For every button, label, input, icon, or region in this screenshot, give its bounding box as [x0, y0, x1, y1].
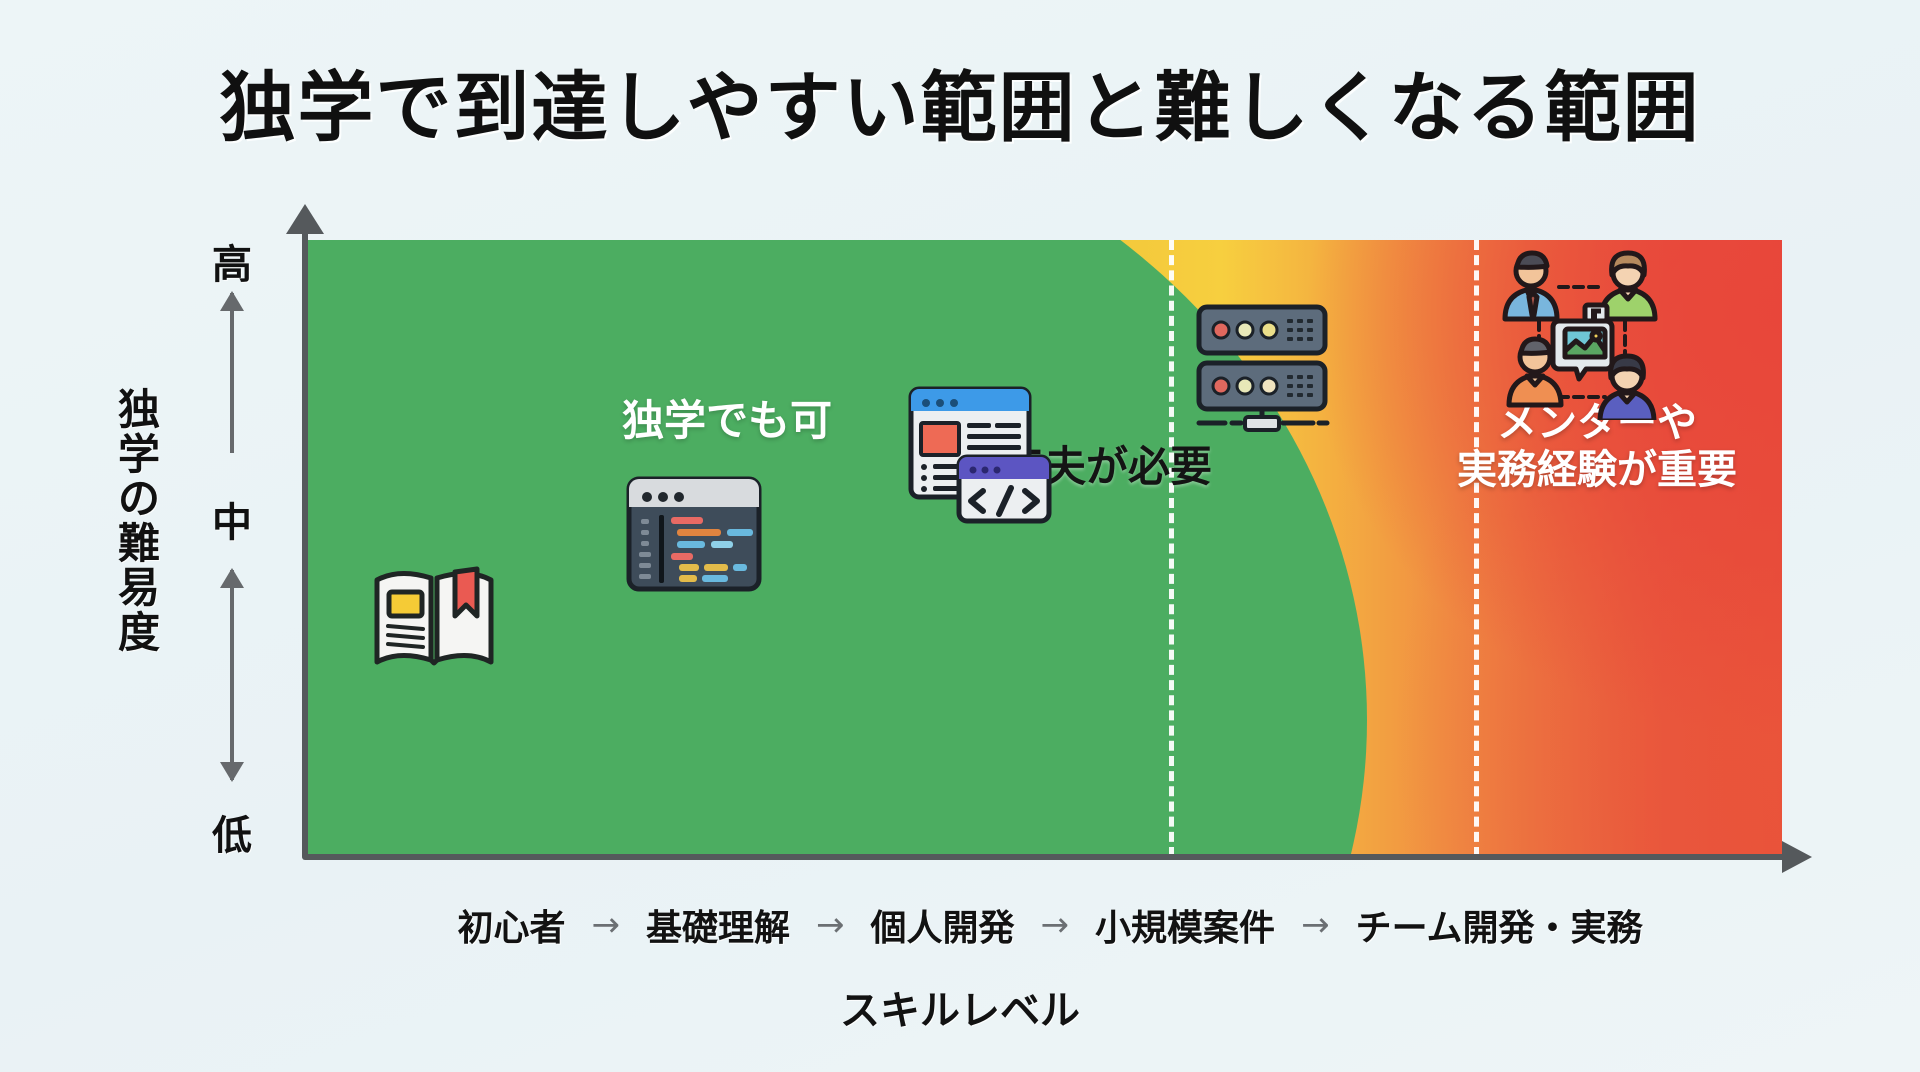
- arrow-head-up: [220, 568, 244, 588]
- x-arrow-icon-1: →: [816, 905, 845, 945]
- y-title-char-3: の: [110, 477, 168, 522]
- y-title-char-6: 度: [110, 611, 168, 656]
- x-axis-title: スキルレベル: [0, 978, 1920, 1036]
- y-axis-arrowhead: [286, 204, 324, 234]
- arrow-shaft: [230, 570, 234, 780]
- y-axis-title: 独学の難易度: [110, 388, 168, 655]
- infographic-root: 独学で到達しやすい範囲と難しくなる範囲 独学でも可 工夫が必要 メンターや 実務…: [0, 0, 1920, 1072]
- open-book-icon: [359, 550, 509, 684]
- arrow-head-down: [220, 762, 244, 782]
- chart-plot-area: 独学でも可 工夫が必要 メンターや 実務経験が重要: [307, 240, 1782, 857]
- x-category-2: 個人開発: [871, 899, 1015, 951]
- x-axis-line: [302, 854, 1792, 860]
- x-category-1: 基礎理解: [646, 899, 790, 951]
- zone-divider-1: [1169, 240, 1174, 857]
- x-category-4: チーム開発・実務: [1356, 899, 1643, 951]
- x-axis-category-labels: 初心者 → 基礎理解 → 個人開発 → 小規模案件 → チーム開発・実務: [300, 896, 1800, 954]
- x-category-0: 初心者: [458, 899, 566, 951]
- zone-divider-2: [1474, 240, 1479, 857]
- y-tick-high: 高: [172, 232, 292, 290]
- code-editor-icon: [625, 473, 765, 599]
- arrow-shaft: [230, 293, 234, 453]
- x-arrow-icon-0: →: [592, 905, 621, 945]
- zone-label-self-study-ok: 独学でも可: [577, 396, 877, 446]
- x-axis-arrowhead: [1782, 841, 1812, 873]
- y-axis-line: [302, 226, 308, 859]
- arrow-head-up: [220, 291, 244, 311]
- y-title-char-1: 独: [110, 388, 168, 433]
- server-rack-icon: [1187, 295, 1337, 439]
- y-title-char-4: 難: [110, 522, 168, 567]
- team-collaboration-icon: [1497, 245, 1667, 424]
- y-title-char-5: 易: [110, 566, 168, 611]
- x-arrow-icon-2: →: [1041, 905, 1070, 945]
- y-tick-mid: 中: [172, 490, 292, 548]
- x-category-3: 小規模案件: [1095, 899, 1275, 951]
- y-scale-arrow-upper: [227, 293, 237, 453]
- web-app-icon: [907, 385, 1053, 529]
- page-title: 独学で到達しやすい範囲と難しくなる範囲: [0, 46, 1920, 156]
- x-arrow-icon-3: →: [1301, 905, 1330, 945]
- y-scale-arrow-lower: [227, 570, 237, 780]
- y-title-char-2: 学: [110, 433, 168, 478]
- zone-label-mentor-line2: 実務経験が重要: [1417, 447, 1777, 494]
- y-tick-low: 低: [172, 803, 292, 861]
